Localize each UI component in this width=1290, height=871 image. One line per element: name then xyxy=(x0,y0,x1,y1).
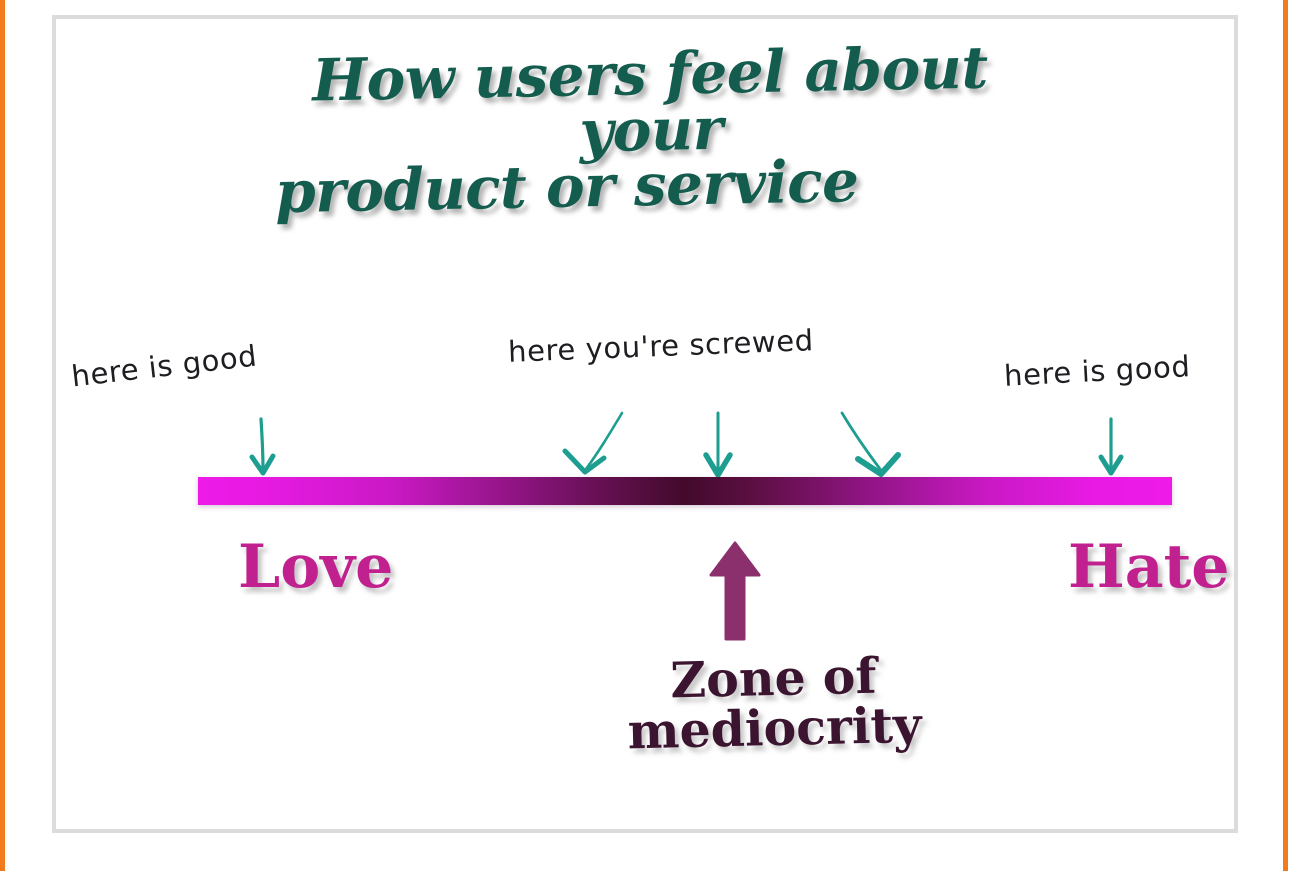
page-title-line-1: How users feel about your xyxy=(254,39,1046,165)
arrow-down-icon xyxy=(1094,417,1128,479)
zone-of-mediocrity-caption: Zone of mediocrity xyxy=(573,649,975,758)
arrow-down-icon xyxy=(701,411,735,481)
arrow-up-icon xyxy=(704,537,766,645)
page-edge-stripe-left xyxy=(0,0,5,871)
page-edge-stripe-right xyxy=(1283,0,1288,871)
image-frame: How users feel about your product or ser… xyxy=(52,15,1238,833)
page-title-line-2: product or service xyxy=(257,151,1048,222)
arrow-down-right-icon xyxy=(834,411,910,481)
annotation-left: here is good xyxy=(70,339,259,394)
arrow-down-left-icon xyxy=(556,411,632,481)
page-title: How users feel about your product or ser… xyxy=(254,39,1047,221)
annotation-center: here you're screwed xyxy=(507,323,814,369)
pole-label-hate: Hate xyxy=(1068,537,1229,597)
zone-caption-line-2: mediocrity xyxy=(574,699,975,758)
love-hate-spectrum-bar xyxy=(198,477,1172,505)
annotation-right: here is good xyxy=(1003,349,1191,393)
arrow-down-icon xyxy=(246,417,280,479)
pole-label-love: Love xyxy=(238,537,393,597)
diagram-canvas: How users feel about your product or ser… xyxy=(0,0,1290,871)
illustration-area: How users feel about your product or ser… xyxy=(56,19,1234,829)
